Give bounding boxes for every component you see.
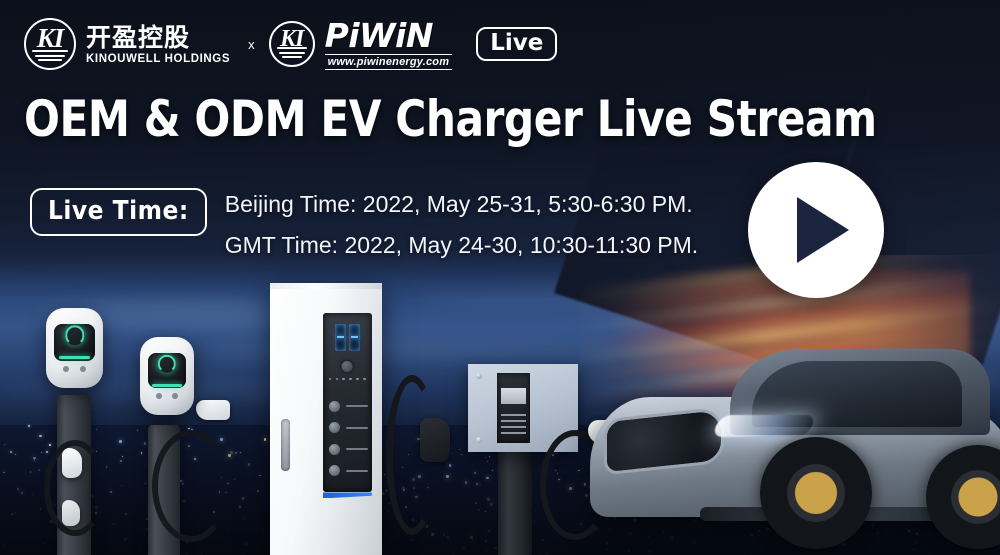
kinouwell-brand: 开盈控股 KINOUWELL HOLDINGS (86, 24, 230, 65)
ev-charger-livestream-banner: KI 开盈控股 KINOUWELL HOLDINGS x KI PiWiN ww… (0, 0, 1000, 555)
kinouwell-emblem-icon: KI (24, 18, 76, 70)
kinouwell-english-name: KINOUWELL HOLDINGS (86, 53, 230, 65)
kinouwell-chinese-name: 开盈控股 (86, 24, 230, 51)
gmt-time-line: GMT Time: 2022, May 24-30, 10:30-11:30 P… (225, 225, 698, 266)
play-triangle-icon (797, 197, 849, 263)
beijing-time-line: Beijing Time: 2022, May 25-31, 5:30-6:30… (225, 184, 698, 225)
logo-separator: x (248, 37, 255, 52)
play-button[interactable] (748, 162, 884, 298)
wave-lines-icon (277, 47, 307, 59)
live-time-block: Live Time: Beijing Time: 2022, May 25-31… (30, 182, 698, 266)
live-time-lines: Beijing Time: 2022, May 25-31, 5:30-6:30… (225, 182, 698, 266)
live-time-label: Live Time: (30, 188, 207, 236)
wave-lines-icon (32, 50, 68, 62)
kinouwell-emblem-text: KI (26, 23, 74, 53)
piwin-website: www.piwinenergy.com (325, 54, 453, 70)
piwin-emblem-icon: KI (269, 21, 315, 67)
live-badge: Live (476, 27, 557, 61)
piwin-brand: PiWiN www.piwinenergy.com (325, 19, 453, 70)
page-title: OEM & ODM EV Charger Live Stream (24, 92, 877, 146)
logo-bar: KI 开盈控股 KINOUWELL HOLDINGS x KI PiWiN ww… (24, 18, 557, 70)
banner-content: KI 开盈控股 KINOUWELL HOLDINGS x KI PiWiN ww… (0, 0, 1000, 555)
piwin-wordmark: PiWiN (325, 19, 453, 52)
